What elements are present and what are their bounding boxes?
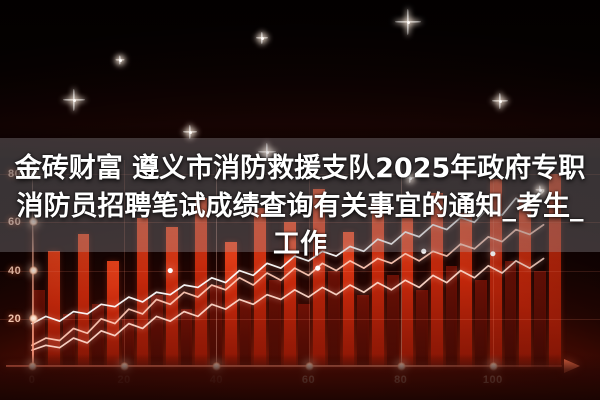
headline-text: 金砖财富 遵义市消防救援支队2025年政府专职消防员招聘笔试成绩查询有关事宜的通… (0, 150, 600, 264)
screenshot-canvas: 02040608010020406080 金砖财富 遵义市消防救援支队2025年… (0, 0, 600, 400)
background-floor-shade (0, 354, 600, 400)
